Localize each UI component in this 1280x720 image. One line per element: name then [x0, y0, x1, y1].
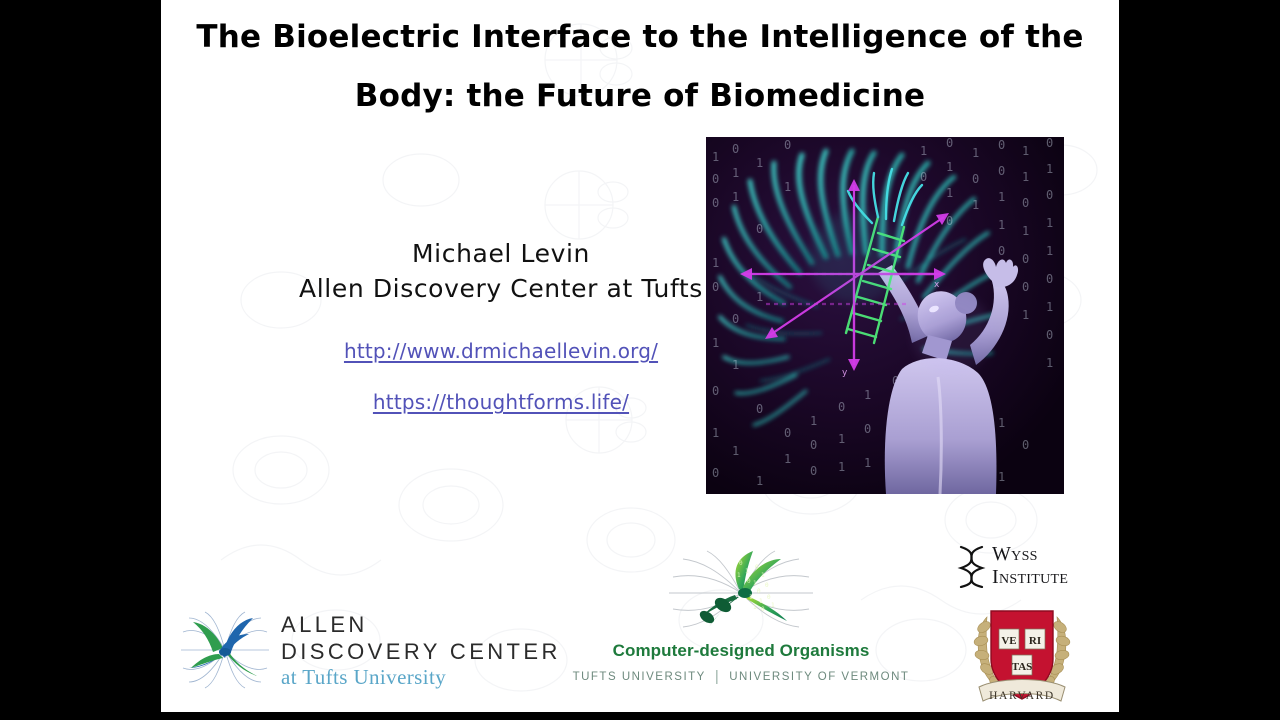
svg-text:0: 0: [712, 280, 719, 294]
harvard-banner-text: HARVARD: [989, 690, 1055, 702]
svg-text:0: 0: [732, 142, 739, 156]
wyss-institute-logo: Wyss Institute: [956, 543, 1068, 589]
svg-text:0: 0: [1046, 188, 1053, 202]
svg-text:1: 1: [745, 568, 749, 575]
svg-text:0: 0: [998, 164, 1005, 178]
svg-text:1: 1: [756, 474, 763, 488]
svg-text:1: 1: [998, 190, 1005, 204]
adc-line-3: at Tufts University: [281, 665, 561, 690]
svg-text:1: 1: [753, 580, 757, 587]
svg-text:0: 0: [920, 170, 927, 184]
svg-text:0: 0: [712, 196, 719, 210]
xenobot-icon: 011 001 100 110 101: [661, 547, 821, 639]
svg-text:1: 1: [759, 598, 763, 605]
cdo-partner-divider: |: [715, 668, 720, 685]
svg-text:1: 1: [753, 604, 757, 611]
harvard-shield-logo: VE RI TAS HARVARD: [971, 603, 1073, 709]
svg-text:1: 1: [749, 594, 753, 601]
svg-text:0: 0: [946, 137, 953, 150]
bioelectric-dancer-artwork: 100 101 010 011 011 101 01 010 1 100 011…: [706, 137, 1064, 494]
svg-text:1: 1: [972, 198, 979, 212]
svg-text:1: 1: [712, 150, 719, 164]
svg-text:0: 0: [864, 422, 871, 436]
wyss-line-2: Institute: [992, 566, 1068, 589]
svg-text:1: 1: [732, 166, 739, 180]
svg-text:y: y: [842, 368, 848, 378]
svg-text:0: 0: [1046, 137, 1053, 150]
svg-text:0: 0: [810, 438, 817, 452]
svg-text:0: 0: [998, 138, 1005, 152]
svg-text:0: 0: [712, 172, 719, 186]
title-line-1: The Bioelectric Interface to the Intelli…: [181, 8, 1099, 67]
svg-text:1: 1: [1022, 224, 1029, 238]
svg-text:0: 0: [972, 172, 979, 186]
svg-text:0: 0: [732, 312, 739, 326]
svg-text:1: 1: [732, 444, 739, 458]
cdo-title: Computer-designed Organisms: [591, 641, 891, 661]
svg-text:1: 1: [946, 186, 953, 200]
harvard-motto-2: RI: [1029, 635, 1041, 647]
svg-text:0: 0: [712, 384, 719, 398]
allen-bird-icon: [179, 610, 271, 690]
svg-text:x: x: [934, 280, 940, 290]
svg-text:0: 0: [765, 582, 769, 589]
dna-helix-icon: [956, 544, 986, 588]
svg-text:1: 1: [998, 416, 1005, 430]
svg-text:1: 1: [864, 456, 871, 470]
wyss-line-1: Wyss: [992, 543, 1068, 566]
allen-discovery-center-logo: ALLEN DISCOVERY CENTER at Tufts Universi…: [179, 610, 561, 690]
svg-text:1: 1: [756, 156, 763, 170]
svg-text:1: 1: [1046, 216, 1053, 230]
svg-text:1: 1: [1046, 300, 1053, 314]
svg-text:1: 1: [784, 180, 791, 194]
adc-line-1: ALLEN: [281, 611, 561, 638]
svg-text:1: 1: [946, 160, 953, 174]
svg-text:0: 0: [761, 606, 765, 613]
svg-text:1: 1: [864, 388, 871, 402]
personal-website-link[interactable]: http://www.drmichaellevin.org/: [344, 339, 658, 363]
wyss-institute-text: Wyss Institute: [992, 543, 1068, 589]
svg-text:0: 0: [1046, 272, 1053, 286]
harvard-motto-1: VE: [1001, 635, 1016, 647]
svg-text:0: 0: [1022, 438, 1029, 452]
svg-text:1: 1: [1022, 308, 1029, 322]
svg-text:1: 1: [712, 256, 719, 270]
svg-text:1: 1: [1046, 162, 1053, 176]
adc-line-2: DISCOVERY CENTER: [281, 638, 561, 665]
svg-text:1: 1: [761, 572, 765, 579]
page-title: The Bioelectric Interface to the Intelli…: [181, 8, 1099, 126]
svg-text:0: 0: [784, 138, 791, 152]
svg-text:1: 1: [784, 452, 791, 466]
svg-text:0: 0: [998, 244, 1005, 258]
svg-text:1: 1: [712, 426, 719, 440]
svg-text:1: 1: [756, 290, 763, 304]
video-frame: The Bioelectric Interface to the Intelli…: [0, 0, 1280, 720]
presentation-slide: The Bioelectric Interface to the Intelli…: [161, 0, 1119, 712]
svg-text:1: 1: [1022, 170, 1029, 184]
thoughtforms-link[interactable]: https://thoughtforms.life/: [373, 390, 629, 414]
svg-text:0: 0: [756, 402, 763, 416]
svg-text:0: 0: [1022, 196, 1029, 210]
svg-text:0: 0: [810, 464, 817, 478]
svg-text:0: 0: [784, 426, 791, 440]
svg-text:1: 1: [732, 358, 739, 372]
title-line-2: Body: the Future of Biomedicine: [181, 67, 1099, 126]
svg-text:0: 0: [767, 594, 771, 601]
svg-text:1: 1: [810, 414, 817, 428]
svg-text:1: 1: [920, 144, 927, 158]
svg-text:1: 1: [972, 146, 979, 160]
svg-text:1: 1: [1046, 356, 1053, 370]
cdo-partners: TUFTS UNIVERSITY | UNIVERSITY OF VERMONT: [591, 668, 891, 685]
computer-designed-organisms-logo: 011 001 100 110 101 Computer-designed Or…: [591, 547, 891, 685]
logo-row: ALLEN DISCOVERY CENTER at Tufts Universi…: [161, 525, 1119, 712]
cdo-partner-right: UNIVERSITY OF VERMONT: [729, 671, 909, 683]
svg-text:1: 1: [838, 460, 845, 474]
svg-text:1: 1: [712, 336, 719, 350]
svg-text:1: 1: [1022, 144, 1029, 158]
svg-text:0: 0: [757, 588, 761, 595]
harvard-motto-3: TAS: [1012, 661, 1033, 673]
svg-text:1: 1: [732, 190, 739, 204]
svg-text:0: 0: [739, 560, 743, 567]
allen-discovery-center-text: ALLEN DISCOVERY CENTER at Tufts Universi…: [281, 611, 561, 690]
svg-text:0: 0: [756, 222, 763, 236]
svg-text:1: 1: [838, 432, 845, 446]
svg-text:1: 1: [737, 572, 741, 579]
svg-text:1: 1: [771, 602, 775, 609]
svg-text:0: 0: [1046, 328, 1053, 342]
svg-text:0: 0: [747, 578, 751, 585]
svg-text:0: 0: [755, 564, 759, 571]
cdo-partner-left: TUFTS UNIVERSITY: [573, 671, 706, 683]
svg-text:0: 0: [838, 400, 845, 414]
svg-text:0: 0: [712, 466, 719, 480]
artwork-canvas: 100 101 010 011 011 101 01 010 1 100 011…: [706, 137, 1064, 494]
svg-text:1: 1: [998, 218, 1005, 232]
svg-text:0: 0: [1022, 280, 1029, 294]
svg-text:1: 1: [998, 470, 1005, 484]
svg-text:0: 0: [1022, 252, 1029, 266]
svg-text:1: 1: [1046, 244, 1053, 258]
